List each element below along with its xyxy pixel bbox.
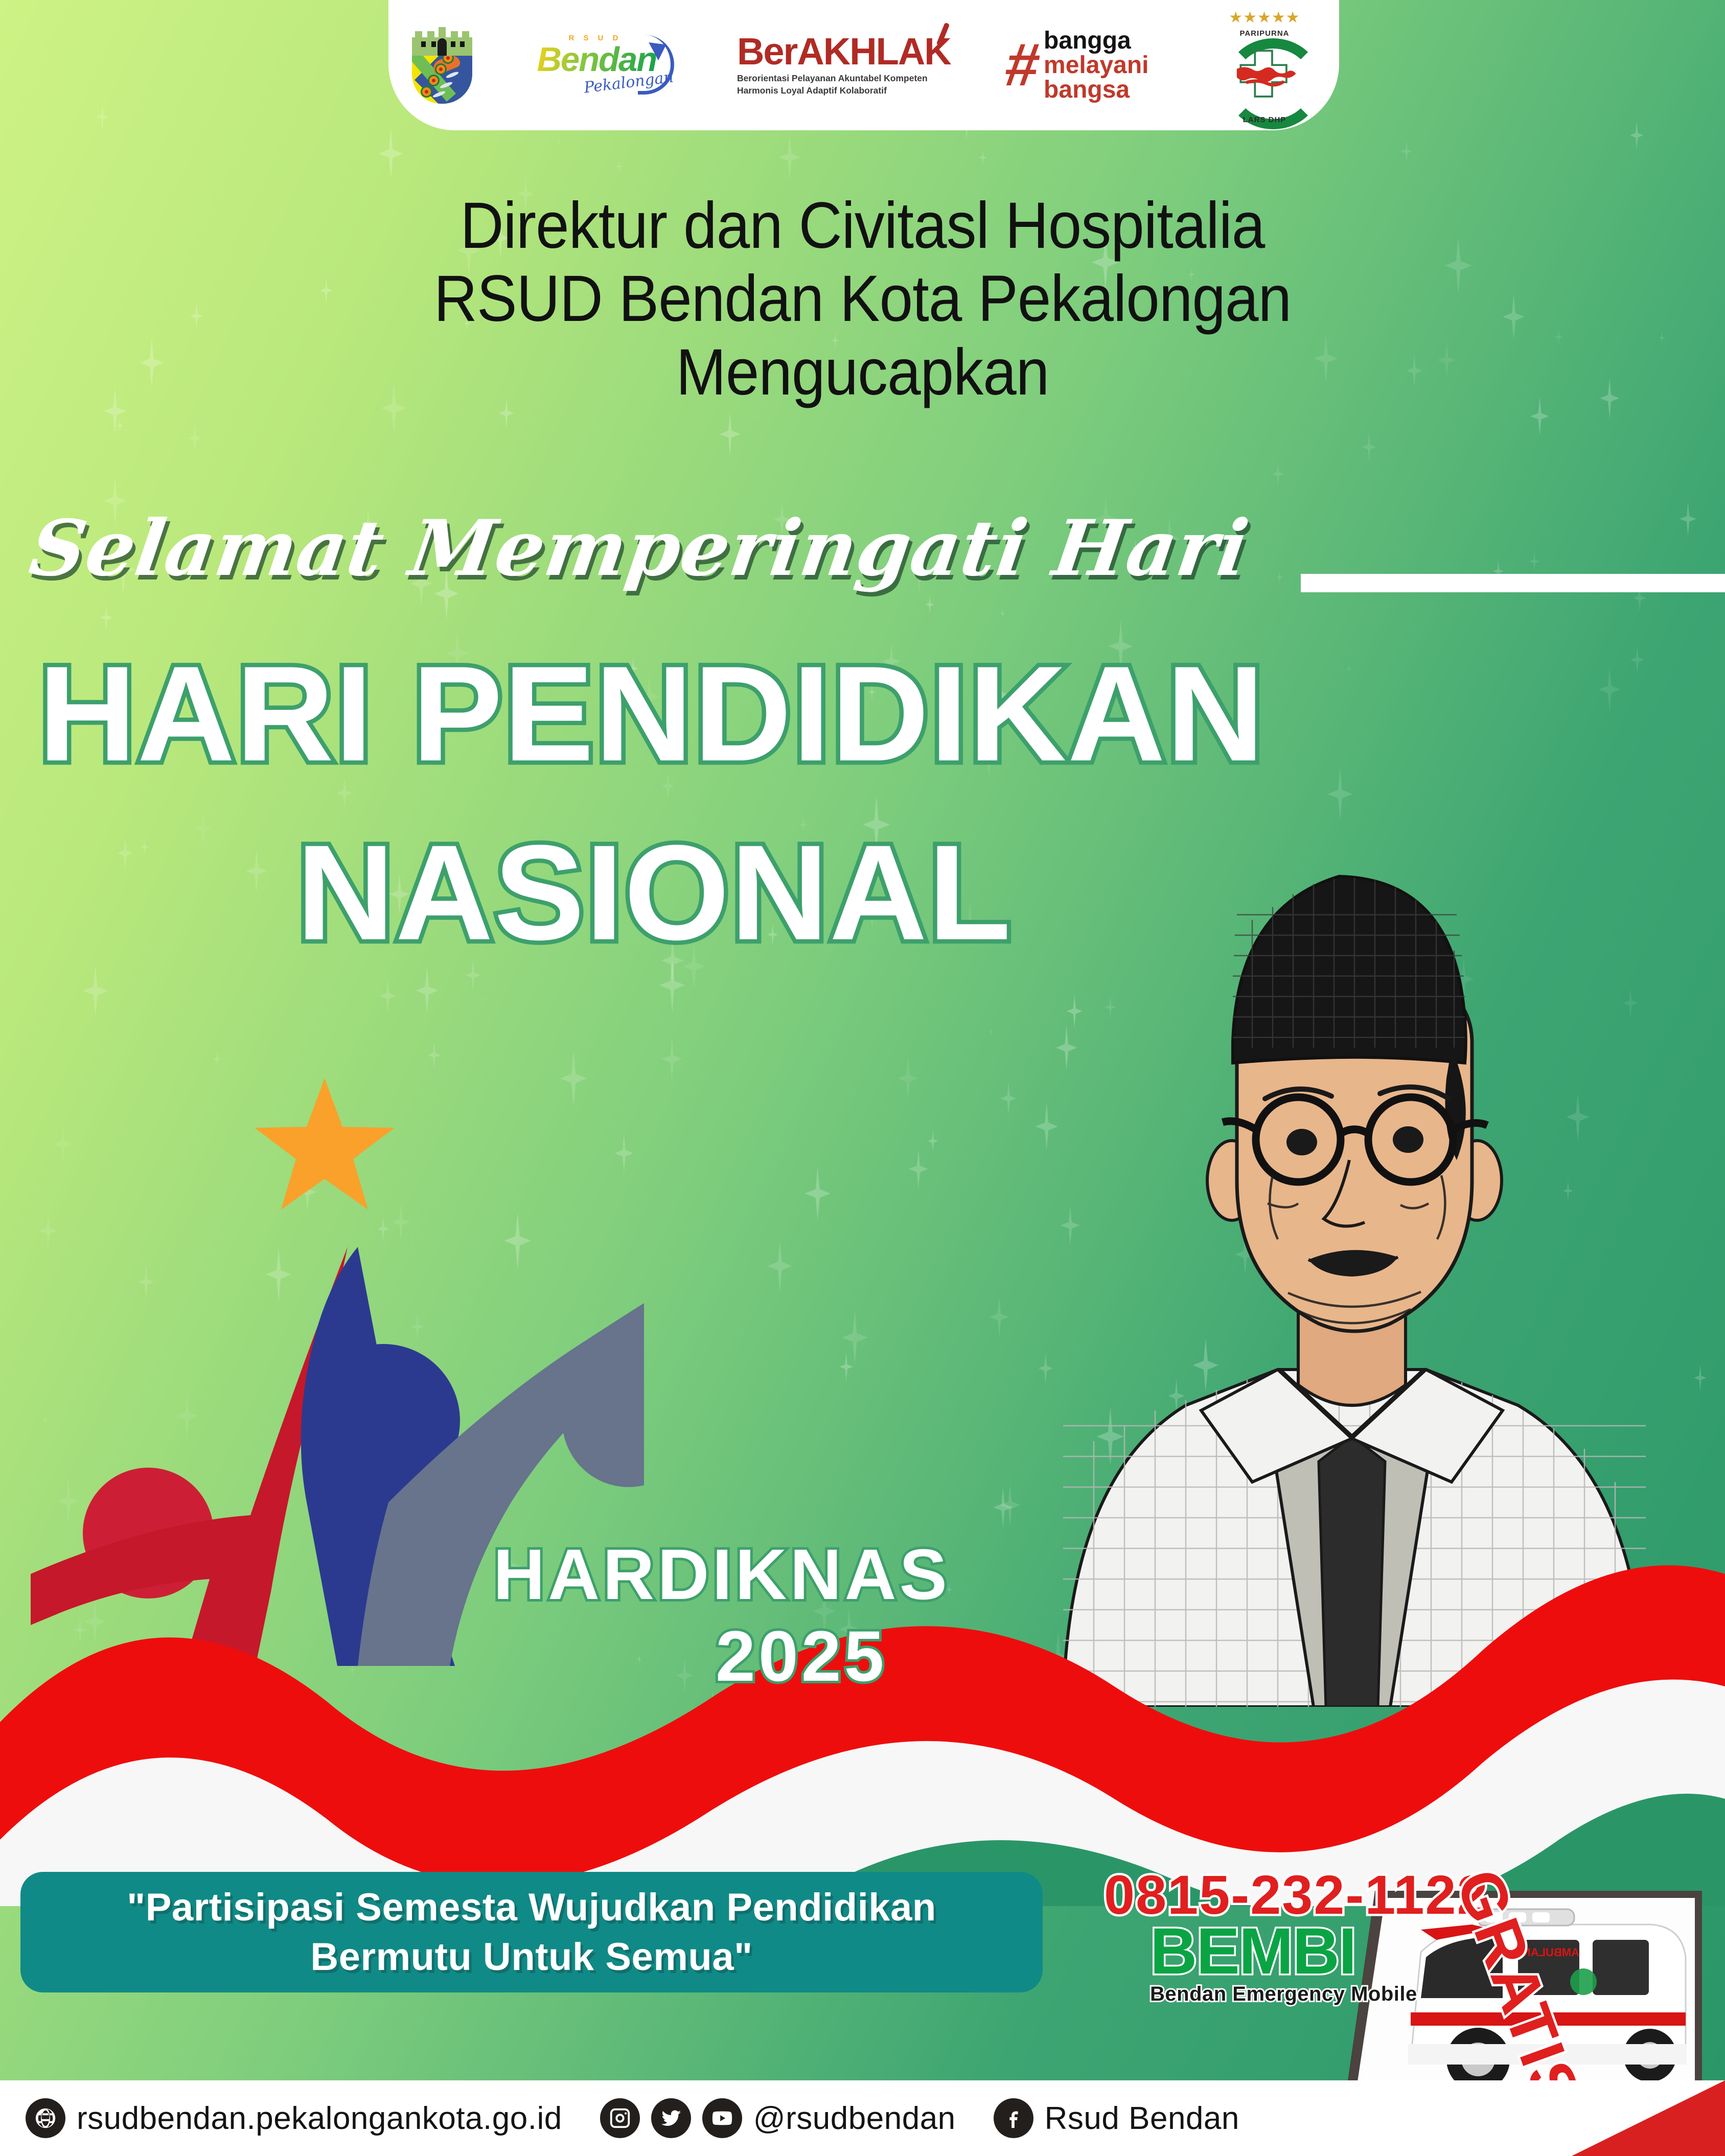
quote-line-1: "Partisipasi Semesta Wujudkan Pendidikan bbox=[127, 1883, 936, 1932]
star-shape bbox=[255, 1078, 395, 1210]
bembi-wordmark: BEMBI bbox=[1150, 1921, 1417, 1982]
accreditation-grade: PARIPURNA bbox=[1213, 29, 1316, 38]
pekalongan-crest-logo bbox=[412, 0, 472, 130]
intro-line-1: Direktur dan Civitasl Hospitalia bbox=[69, 189, 1656, 262]
bangga-line3: bangsa bbox=[1044, 78, 1148, 102]
footer-bar: rsudbendan.pekalongankota.go.id @rsudben… bbox=[0, 2080, 1725, 2156]
youtube-icon[interactable] bbox=[702, 2098, 742, 2138]
logo-bar: R S U D Bendan Pekalongan BerAKHLAK Bero… bbox=[388, 0, 1339, 130]
bangga-line2: melayani bbox=[1044, 53, 1148, 78]
hashtag-icon: # bbox=[1003, 41, 1043, 89]
footer-social-handle[interactable]: @rsudbendan bbox=[753, 2100, 956, 2137]
accreditation-body: LARS DHP bbox=[1213, 115, 1316, 124]
bangga-line1: bangga bbox=[1044, 29, 1148, 53]
event-name: HARDIKNAS bbox=[493, 1533, 950, 1616]
rsud-bendan-logo: R S U D Bendan Pekalongan bbox=[537, 0, 672, 130]
event-year: 2025 bbox=[716, 1615, 887, 1698]
quote-banner: "Partisipasi Semesta Wujudkan Pendidikan… bbox=[20, 1872, 1043, 1992]
twitter-icon[interactable] bbox=[651, 2098, 691, 2138]
bembi-logo: BEMBI Bendan Emergency Mobile bbox=[1150, 1921, 1417, 2006]
berakhlak-title: BerAKHLAK bbox=[737, 34, 941, 69]
bangga-melayani-bangsa-logo: # bangga melayani bangsa bbox=[1006, 0, 1148, 130]
intro-heading: Direktur dan Civitasl Hospitalia RSUD Be… bbox=[0, 189, 1725, 409]
quote-line-2: Bermutu Untuk Semua" bbox=[310, 1932, 752, 1982]
eye-left bbox=[1286, 1129, 1317, 1155]
globe-icon[interactable] bbox=[26, 2098, 65, 2138]
intro-line-3: Mengucapkan bbox=[69, 336, 1656, 409]
footer-facebook-name[interactable]: Rsud Bendan bbox=[1045, 2100, 1239, 2137]
eye-right bbox=[1393, 1126, 1423, 1153]
footer-red-accent bbox=[1572, 2080, 1725, 2156]
indonesia-map-cross-icon bbox=[1225, 38, 1304, 110]
coat-of-arms-icon bbox=[412, 27, 472, 104]
berakhlak-sub-line2: Harmonis Loyal Adaptif Kolaboratif bbox=[737, 85, 941, 97]
star-rating-icon: ★★★★★ bbox=[1213, 9, 1316, 27]
lars-accreditation-logo: ★★★★★ PARIPURNA LARS DHP bbox=[1213, 0, 1316, 130]
footer-website[interactable]: rsudbendan.pekalongankota.go.id bbox=[77, 2100, 562, 2137]
peci-cap bbox=[1233, 876, 1466, 1063]
bembi-tagline: Bendan Emergency Mobile bbox=[1150, 1983, 1417, 2006]
headline-line-2: NASIONAL bbox=[296, 815, 1012, 971]
instagram-icon[interactable] bbox=[600, 2098, 640, 2138]
intro-line-2: RSUD Bendan Kota Pekalongan bbox=[69, 262, 1656, 335]
script-rule-divider bbox=[1301, 574, 1725, 592]
berakhlak-sub-line1: Berorientasi Pelayanan Akuntabel Kompete… bbox=[737, 73, 941, 85]
script-greeting: Selamat Memperingati Hari bbox=[25, 503, 1254, 593]
berakhlak-logo: BerAKHLAK Berorientasi Pelayanan Akuntab… bbox=[737, 0, 941, 130]
poster-canvas: R S U D Bendan Pekalongan BerAKHLAK Bero… bbox=[0, 0, 1725, 2156]
facebook-icon[interactable] bbox=[994, 2098, 1033, 2138]
headline-line-1: HARI PENDIDIKAN bbox=[38, 636, 1265, 792]
